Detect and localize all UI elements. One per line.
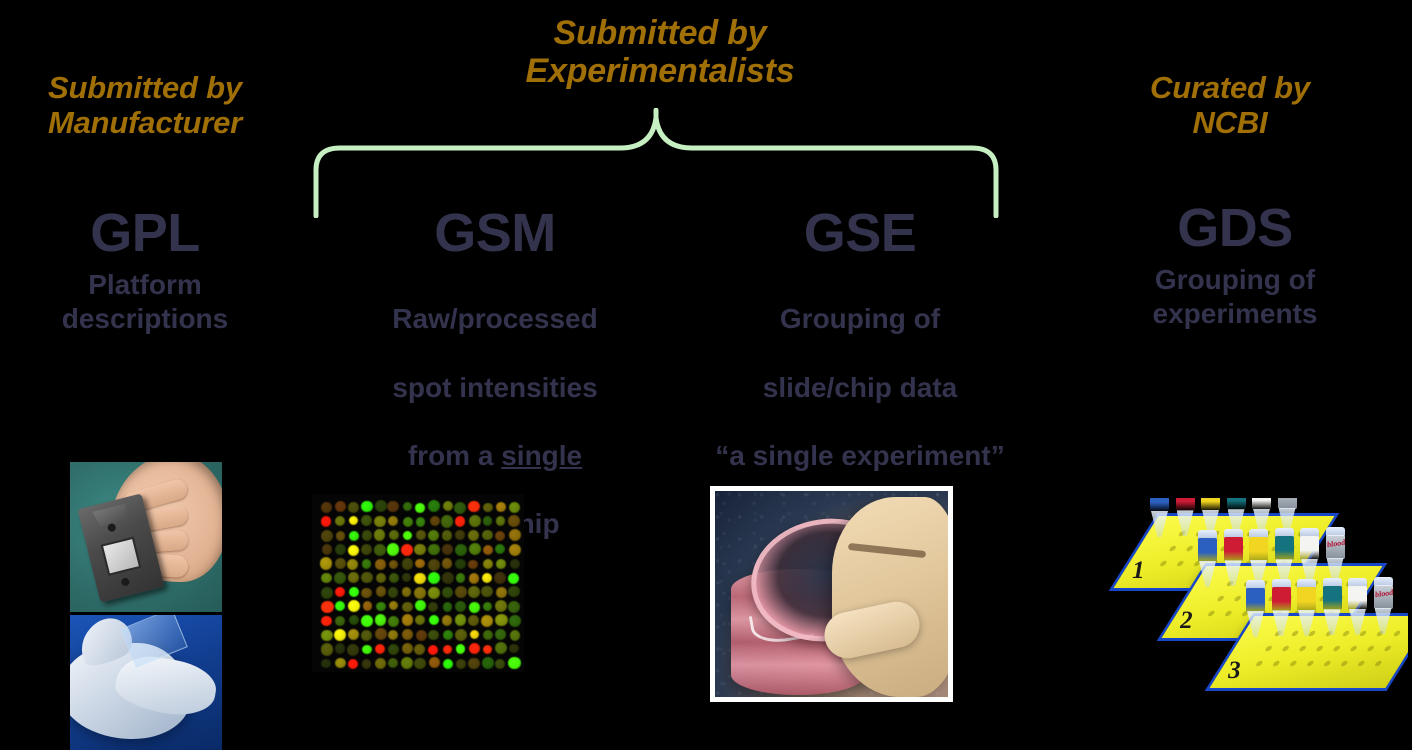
microarray-spot bbox=[443, 602, 452, 611]
microarray-spot bbox=[349, 531, 359, 541]
microarray-spot bbox=[510, 559, 520, 569]
microarray-spot bbox=[349, 516, 359, 526]
microarray-spot bbox=[375, 614, 386, 625]
microarray-spot bbox=[348, 600, 360, 612]
microarray-spot bbox=[375, 658, 386, 669]
microarray-spot bbox=[347, 644, 359, 656]
microarray-spot bbox=[442, 615, 453, 626]
microarray-spot bbox=[321, 659, 330, 668]
microarray-spot bbox=[442, 572, 454, 584]
microarray-spot bbox=[428, 602, 438, 612]
microarray-spot bbox=[376, 573, 386, 583]
microarray-spot bbox=[483, 602, 492, 611]
microarray-spot bbox=[402, 602, 413, 613]
microarray-spot bbox=[402, 587, 412, 597]
microarray-spot bbox=[428, 587, 440, 599]
microarray-spot bbox=[334, 629, 346, 641]
microarray-spot bbox=[414, 544, 426, 556]
microarray-spot bbox=[443, 645, 452, 654]
microarray-spot bbox=[509, 502, 520, 513]
microarray-spot bbox=[508, 601, 520, 613]
microarray-spot bbox=[388, 630, 399, 641]
microarray-spot bbox=[335, 501, 346, 512]
microarray-spot bbox=[348, 572, 359, 583]
microarray-spot bbox=[470, 630, 480, 640]
microarray-spot bbox=[483, 516, 492, 525]
microarray-spot bbox=[509, 644, 519, 654]
microarray-spot bbox=[361, 572, 373, 584]
microarray-spot bbox=[481, 615, 493, 627]
microarray-spot bbox=[375, 559, 386, 570]
microarray-spot bbox=[403, 517, 413, 527]
microarray-spot bbox=[374, 544, 386, 556]
microarray-spot bbox=[321, 530, 333, 542]
microarray-spot bbox=[428, 645, 438, 655]
microarray-spot bbox=[334, 572, 346, 584]
microarray-spot bbox=[469, 602, 480, 613]
microarray-spot bbox=[495, 544, 505, 554]
microarray-spot bbox=[428, 559, 440, 571]
microarray-spot bbox=[495, 642, 507, 654]
microarray-spot bbox=[320, 557, 332, 569]
header-label-manufacturer: Submitted by Manufacturer bbox=[0, 70, 290, 140]
tube-color-band bbox=[1348, 586, 1367, 610]
microarray-spot bbox=[387, 543, 399, 555]
petri-photo-inner bbox=[715, 491, 948, 697]
microarray-spot bbox=[335, 616, 345, 626]
microarray-spot bbox=[389, 601, 398, 610]
microarray-spot bbox=[494, 572, 506, 584]
microarray-spot bbox=[375, 500, 387, 512]
gsm-desc-line-2: spot intensities bbox=[350, 371, 640, 405]
microarray-spot bbox=[495, 531, 505, 541]
column-code-gpl: GPL bbox=[0, 205, 290, 261]
microarray-spot bbox=[469, 515, 481, 527]
microarray-spot bbox=[388, 516, 398, 526]
microarray-spot bbox=[509, 544, 521, 556]
microarray-spot bbox=[402, 573, 412, 583]
microarray-spot bbox=[495, 614, 507, 626]
microarray-spot bbox=[483, 503, 492, 512]
tube-color-band bbox=[1278, 498, 1297, 509]
microarray-spot bbox=[375, 628, 387, 640]
microarray-spot bbox=[482, 657, 494, 669]
microarray-spot bbox=[388, 587, 399, 598]
microarray-spot bbox=[376, 602, 386, 612]
microarray-spot bbox=[348, 659, 358, 669]
microarray-spot bbox=[347, 559, 358, 570]
microarray-spot bbox=[481, 586, 493, 598]
petri-dish-in-gloved-hand-photo bbox=[710, 486, 953, 702]
column-description-gpl: Platform descriptions bbox=[0, 268, 290, 336]
microarray-spot bbox=[402, 558, 414, 570]
gse-desc-line-1: Grouping of bbox=[680, 302, 1040, 336]
microarray-spot bbox=[387, 501, 398, 512]
microarray-spot bbox=[455, 544, 467, 556]
tube-color-band bbox=[1198, 538, 1217, 562]
microarray-spot bbox=[509, 615, 521, 627]
gsm-desc-line-1: Raw/processed bbox=[350, 302, 640, 336]
microarray-spot bbox=[388, 616, 399, 627]
microarray-spot bbox=[456, 573, 466, 583]
microarray-spot bbox=[361, 615, 373, 627]
microarray-spot bbox=[403, 531, 412, 540]
microarray-spot bbox=[415, 600, 426, 611]
microarray-spot bbox=[469, 573, 480, 584]
column-code-gds: GDS bbox=[1090, 200, 1380, 256]
microarray-spot bbox=[321, 587, 333, 599]
microarray-spot-grid-photo bbox=[312, 494, 524, 672]
microarray-spot bbox=[495, 629, 506, 640]
microarray-spot bbox=[321, 516, 332, 527]
tube-color-band bbox=[1300, 536, 1319, 560]
microarray-spot bbox=[321, 630, 332, 641]
microarray-spot bbox=[456, 644, 466, 654]
microarray-spot bbox=[454, 502, 466, 514]
microarray-spot bbox=[415, 559, 424, 568]
gloved-hand-with-slide-photo bbox=[70, 615, 222, 750]
microarray-spot bbox=[483, 645, 493, 655]
tube-color-band bbox=[1201, 498, 1220, 511]
microarray-spot bbox=[482, 573, 492, 583]
microarray-spot bbox=[430, 516, 440, 526]
microarray-spot bbox=[349, 615, 359, 625]
microarray-spot bbox=[401, 544, 413, 556]
microarray-spot bbox=[428, 500, 440, 512]
microarray-spot bbox=[361, 630, 372, 641]
microarray-spot bbox=[402, 629, 413, 640]
column-gpl: GPL Platform descriptions bbox=[0, 205, 290, 336]
microarray-spot bbox=[335, 516, 345, 526]
microarray-spot bbox=[482, 530, 493, 541]
microarray-spot bbox=[362, 559, 372, 569]
genechip-in-hand-photo bbox=[70, 462, 222, 612]
microarray-spot bbox=[469, 543, 481, 555]
microarray-spot bbox=[361, 515, 372, 526]
microarray-spot bbox=[335, 601, 345, 611]
microarray-spot bbox=[403, 502, 412, 511]
rack-number-label: 3 bbox=[1228, 657, 1241, 685]
microarray-spot bbox=[389, 573, 399, 583]
microarray-spot bbox=[389, 560, 398, 569]
microarray-spot bbox=[348, 629, 360, 641]
microarray-spot bbox=[321, 502, 332, 513]
microarray-spot bbox=[375, 644, 385, 654]
microarray-spot bbox=[362, 659, 371, 668]
microarray-spot bbox=[496, 587, 506, 597]
microarray-spot bbox=[414, 644, 425, 655]
header-label-experimentalists: Submitted by Experimentalists bbox=[455, 14, 865, 91]
microarray-spot bbox=[456, 659, 466, 669]
microarray-spot bbox=[495, 659, 505, 669]
microarray-spot bbox=[416, 530, 426, 540]
microarray-spot bbox=[483, 545, 493, 555]
gsm-desc-emphasis-single: single bbox=[501, 440, 582, 471]
microarray-spot bbox=[429, 615, 439, 625]
microarray-spot bbox=[483, 559, 493, 569]
microarray-spot bbox=[508, 657, 520, 669]
microarray-spot bbox=[415, 503, 425, 513]
column-gds: GDS Grouping of experiments bbox=[1090, 200, 1380, 331]
microarray-spot bbox=[388, 644, 399, 655]
tube-color-band bbox=[1275, 536, 1294, 560]
microarray-spot bbox=[335, 587, 345, 597]
microarray-spot bbox=[455, 559, 465, 569]
tube-color-band bbox=[1227, 498, 1246, 510]
microarray-spot bbox=[335, 643, 346, 654]
microarray-spot bbox=[455, 629, 467, 641]
microarray-spot bbox=[361, 501, 372, 512]
microarray-spot bbox=[335, 544, 346, 555]
rack-number-label: 1 bbox=[1132, 557, 1145, 585]
microarray-spot bbox=[361, 544, 372, 555]
microarray-spot bbox=[428, 544, 439, 555]
microarray-spot bbox=[455, 530, 465, 540]
tube-color-band bbox=[1297, 587, 1316, 611]
microarray-spot bbox=[348, 502, 359, 513]
microarray-spot bbox=[443, 630, 453, 640]
microarray-spot bbox=[443, 501, 453, 511]
microarray-spot bbox=[510, 630, 521, 641]
tube-color-band bbox=[1224, 537, 1243, 561]
microarray-spot bbox=[321, 573, 331, 583]
tube-color-band bbox=[1272, 587, 1291, 611]
microarray-spot bbox=[388, 658, 398, 668]
microarray-spot bbox=[363, 601, 372, 610]
column-description-gds: Grouping of experiments bbox=[1090, 263, 1380, 331]
microarray-spot bbox=[496, 559, 506, 569]
rack-number-label: 2 bbox=[1180, 607, 1193, 635]
microarray-spot bbox=[349, 587, 359, 597]
microarray-spot bbox=[455, 516, 466, 527]
chip-window-shape bbox=[101, 537, 142, 576]
microarray-spot bbox=[469, 643, 481, 655]
microarray-spot bbox=[442, 558, 452, 568]
microarray-spot bbox=[508, 586, 520, 598]
microarray-spot bbox=[414, 587, 426, 599]
microarray-spot bbox=[335, 558, 346, 569]
microarray-spot bbox=[468, 658, 479, 669]
tube-rack-stack-photo: 1blood2blood3blood bbox=[1108, 498, 1408, 712]
microarray-spot bbox=[321, 643, 333, 655]
microarray-spot bbox=[483, 630, 493, 640]
column-description-gse: Grouping of slide/chip data “a single ex… bbox=[680, 268, 1040, 507]
microarray-spot bbox=[455, 586, 467, 598]
tube-color-band bbox=[1323, 586, 1342, 610]
microarray-spot bbox=[428, 572, 440, 584]
microarray-spot bbox=[496, 502, 506, 512]
gsm-desc-line-3: from a single bbox=[350, 439, 640, 473]
microarray-spot bbox=[443, 659, 453, 669]
microarray-spot bbox=[414, 658, 426, 670]
microarray-spot bbox=[455, 614, 467, 626]
tube-color-band bbox=[1252, 498, 1271, 510]
microarray-spot bbox=[348, 545, 360, 557]
microarray-spot bbox=[402, 614, 414, 626]
microarray-spot bbox=[441, 515, 453, 527]
microarray-spot bbox=[389, 530, 400, 541]
grouping-brace-icon bbox=[300, 108, 1010, 218]
tube-color-band bbox=[1249, 537, 1268, 561]
tube-color-band bbox=[1150, 498, 1169, 512]
microarray-spot bbox=[321, 616, 332, 627]
gse-desc-line-2: slide/chip data bbox=[680, 371, 1040, 405]
microarray-spot bbox=[442, 587, 453, 598]
microarray-spot bbox=[335, 658, 346, 669]
microarray-spot bbox=[468, 615, 479, 626]
chip-port-hole bbox=[120, 577, 130, 587]
microarray-spot bbox=[442, 530, 453, 541]
microarray-spot bbox=[495, 600, 507, 612]
microarray-spot bbox=[374, 516, 385, 527]
microarray-spot bbox=[402, 643, 413, 654]
microarray-spot bbox=[468, 501, 479, 512]
microarray-spot bbox=[509, 529, 521, 541]
microarray-spot bbox=[376, 586, 387, 597]
microarray-spot bbox=[429, 657, 440, 668]
microarray-spot bbox=[401, 657, 413, 669]
microarray-spot bbox=[321, 601, 333, 613]
microarray-spot bbox=[455, 601, 467, 613]
gsm-desc-line-3-prefix: from a bbox=[408, 440, 501, 471]
microarray-spot bbox=[468, 530, 479, 541]
column-code-gse: GSE bbox=[680, 205, 1040, 261]
microarray-spot bbox=[428, 530, 439, 541]
microarray-spot bbox=[496, 516, 506, 526]
microarray-spot bbox=[416, 630, 427, 641]
microarray-spot bbox=[415, 615, 425, 625]
tube-color-band bbox=[1176, 498, 1195, 511]
microarray-spot bbox=[468, 586, 480, 598]
microarray-spot bbox=[361, 588, 372, 599]
microarray-spot bbox=[336, 531, 345, 540]
microarray-spot bbox=[362, 530, 372, 540]
tube-color-band bbox=[1246, 588, 1265, 612]
microarray-spot bbox=[414, 573, 426, 585]
chip-port-hole bbox=[107, 523, 117, 533]
column-gse: GSE Grouping of slide/chip data “a singl… bbox=[680, 205, 1040, 507]
gloved-hand-shape bbox=[832, 497, 948, 697]
microarray-spot bbox=[508, 515, 520, 527]
microarray-spot bbox=[374, 529, 385, 540]
microarray-spot bbox=[416, 517, 426, 527]
gse-desc-line-3: “a single experiment” bbox=[680, 439, 1040, 473]
microarray-spot bbox=[428, 630, 438, 640]
microarray-spot bbox=[508, 573, 519, 584]
microarray-spot bbox=[468, 560, 478, 570]
column-code-gsm: GSM bbox=[350, 205, 640, 261]
header-label-ncbi: Curated by NCBI bbox=[1085, 70, 1375, 140]
microarray-spot bbox=[362, 645, 372, 655]
microarray-spot bbox=[442, 544, 453, 555]
microarray-spot bbox=[322, 544, 332, 554]
